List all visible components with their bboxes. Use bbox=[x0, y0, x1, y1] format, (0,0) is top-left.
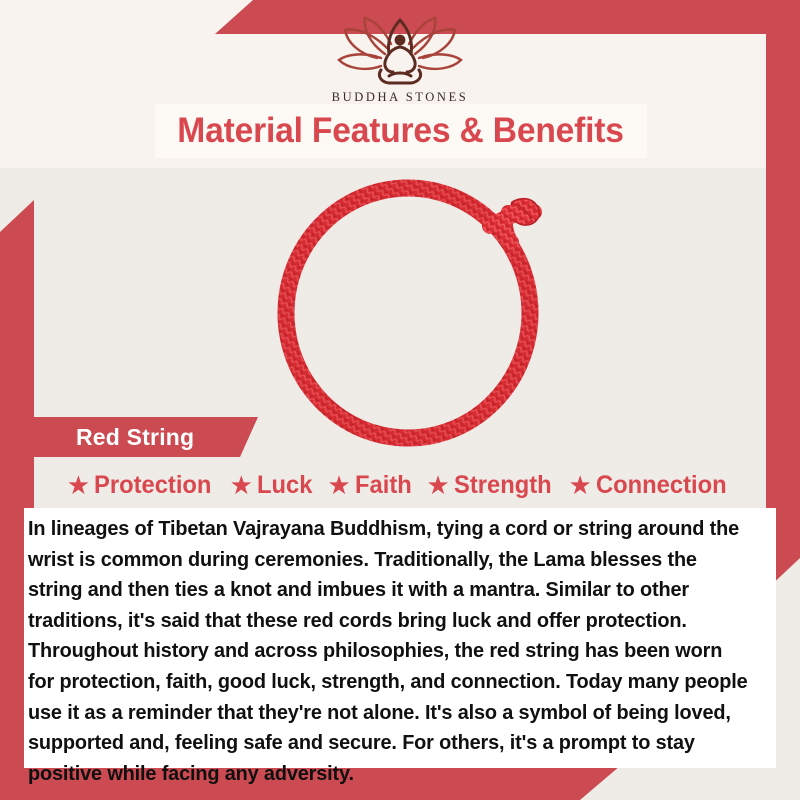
ribbon-label: Red String bbox=[76, 424, 194, 451]
benefit-label: Connection bbox=[596, 471, 727, 500]
description-paragraph: In lineages of Tibetan Vajrayana Buddhis… bbox=[28, 514, 750, 789]
star-icon: ★ bbox=[426, 472, 449, 498]
benefit-label: Protection bbox=[94, 471, 211, 500]
description-box: In lineages of Tibetan Vajrayana Buddhis… bbox=[24, 508, 776, 768]
lotus-meditation-logo-icon bbox=[325, 14, 475, 88]
benefit-label: Luck bbox=[257, 471, 312, 500]
ribbon-red-string: Red String bbox=[18, 417, 258, 457]
benefit-label: Faith bbox=[355, 471, 412, 500]
title-banner: Material Features & Benefits bbox=[155, 104, 647, 158]
benefit-label: Strength bbox=[454, 471, 552, 500]
star-icon: ★ bbox=[568, 472, 591, 498]
star-icon: ★ bbox=[67, 472, 90, 498]
brand-name: BUDDHA STONES bbox=[0, 90, 800, 105]
benefit-item-connection: ★ Connection bbox=[568, 471, 733, 500]
benefits-row: ★ Protection ★ Luck ★ Faith ★ Strength ★… bbox=[34, 466, 766, 504]
product-photo bbox=[34, 168, 766, 418]
benefit-item-luck: ★ Luck bbox=[230, 471, 316, 500]
poster-canvas: BUDDHA STONES Material Features & Benefi… bbox=[0, 0, 800, 800]
red-braided-cord-bracelet-icon bbox=[268, 168, 568, 453]
brand-logo: BUDDHA STONES bbox=[0, 14, 800, 105]
page-title: Material Features & Benefits bbox=[178, 111, 625, 151]
benefit-item-protection: ★ Protection bbox=[67, 471, 218, 500]
star-icon: ★ bbox=[327, 472, 350, 498]
benefit-item-strength: ★ Strength bbox=[426, 471, 556, 500]
benefit-item-faith: ★ Faith bbox=[327, 471, 414, 500]
star-icon: ★ bbox=[230, 472, 253, 498]
